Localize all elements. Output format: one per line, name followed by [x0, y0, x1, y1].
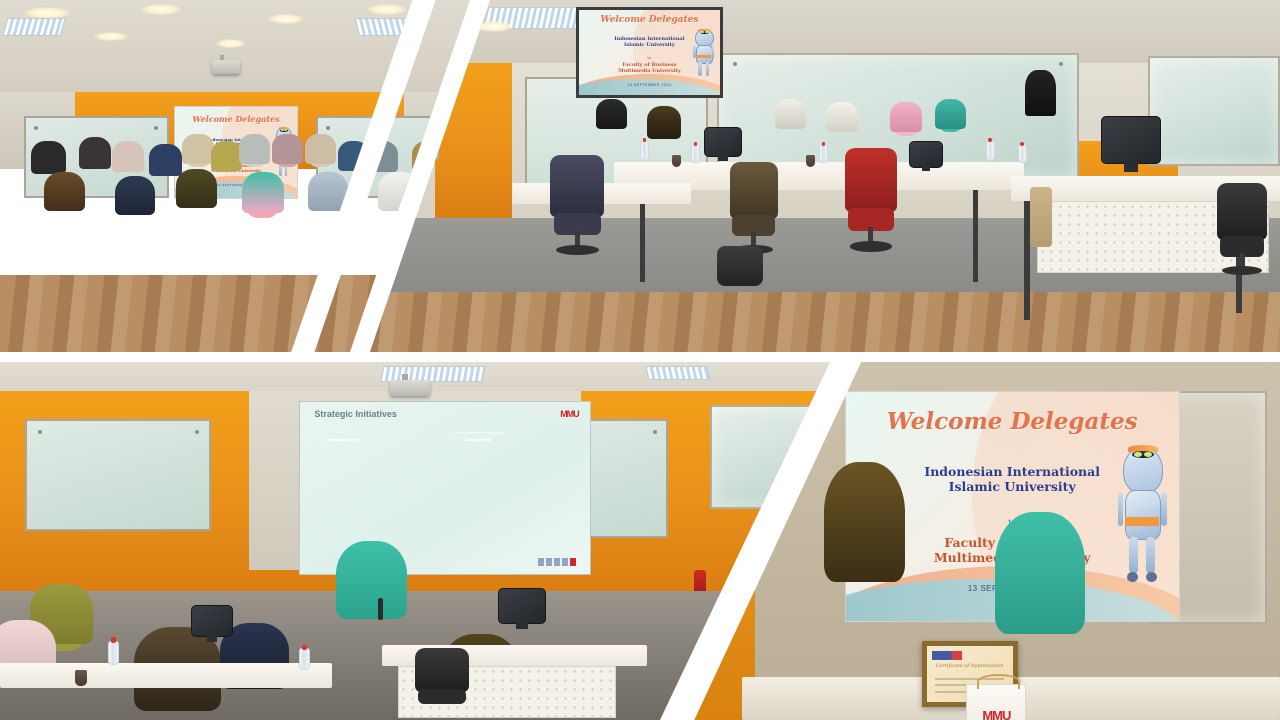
- mmu-souvenir-bag: MMU: [966, 684, 1026, 720]
- backpack: [717, 246, 763, 286]
- mmu-logo-text: MMU: [560, 409, 579, 419]
- ceiling-light-panel: [646, 366, 711, 380]
- desktop-monitor: [498, 588, 546, 622]
- office-chair: [1217, 183, 1267, 275]
- bag-handle: [977, 674, 1020, 689]
- office-chair: [415, 648, 469, 718]
- desk-leg: [1024, 201, 1030, 321]
- audience-table: [0, 663, 332, 688]
- mmu-logo: MMU: [560, 409, 579, 419]
- laptop-monitor: [704, 127, 742, 155]
- water-bottle: [986, 141, 995, 161]
- ceiling-light-icon: [474, 21, 514, 32]
- microphone-icon: [378, 598, 383, 620]
- ceiling-light-icon: [216, 39, 246, 48]
- ceiling-light-icon: [367, 4, 407, 15]
- plaque-logo-band: [932, 651, 1008, 660]
- desktop-monitor: [1101, 116, 1161, 162]
- office-chair: [730, 162, 778, 254]
- water-bottle: [1018, 144, 1027, 163]
- photo-collage: Welcome Delegates Indonesian Internation…: [0, 0, 1280, 720]
- ceiling-light-icon: [141, 4, 181, 15]
- plaque-title: Certificate of Appreciation: [927, 663, 1013, 669]
- presenter-trousers: [1030, 187, 1052, 247]
- ceiling-projector: [212, 60, 240, 74]
- ceiling-light-icon: [268, 14, 304, 24]
- office-chair: [550, 155, 604, 255]
- wall-display-welcome-slide: Welcome Delegates Indonesian Internation…: [576, 7, 723, 97]
- desktop-monitor: [191, 605, 233, 635]
- mmu-robot-mascot-icon: [692, 29, 716, 78]
- orange-wall-strip: [435, 63, 512, 225]
- coffee-cup: [672, 155, 681, 167]
- projected-strategic-initiatives-slide: Strategic Initiatives MMU Cadet Industry…: [299, 401, 592, 575]
- collage-row-bottom: Strategic Initiatives MMU Cadet Industry…: [0, 362, 1280, 720]
- strategic-left-column: Cadet Industry engagement to recruit tal…: [314, 433, 442, 441]
- slide-title: Welcome Delegates: [846, 408, 1179, 435]
- ceiling-projector: [390, 380, 430, 396]
- slide-date: 13 SEPTEMBER 2023: [579, 83, 720, 87]
- water-bottle: [299, 648, 310, 670]
- ceiling: [0, 0, 470, 106]
- ceiling-light-panel: [355, 18, 423, 36]
- water-bottle: [640, 141, 649, 161]
- slide-title: Welcome Delegates: [579, 15, 720, 25]
- coffee-cup: [806, 155, 815, 167]
- water-bottle: [691, 144, 700, 163]
- ceiling-light-icon: [94, 32, 128, 41]
- mmu-robot-mascot-icon: [1115, 447, 1168, 580]
- desk-leg: [973, 190, 978, 282]
- glass-whiteboard-left: [25, 419, 212, 530]
- whiteboard-far-right: [1148, 56, 1280, 166]
- office-chair-red: [845, 148, 897, 252]
- mmu-logo-text: MMU: [972, 708, 1021, 720]
- water-bottle: [108, 641, 119, 665]
- slide-footer-dots: [538, 558, 576, 566]
- slide-title: Welcome Delegates: [175, 114, 297, 124]
- collage-row-top: Welcome Delegates Indonesian Internation…: [0, 0, 1280, 352]
- slide-title: Strategic Initiatives: [314, 409, 397, 419]
- coffee-cup: [75, 670, 87, 686]
- water-bottle: [819, 144, 828, 163]
- laptop-monitor: [909, 141, 943, 166]
- fire-extinguisher-icon: [419, 162, 428, 188]
- row-divider: [0, 352, 1280, 362]
- ceiling-light-panel: [2, 18, 65, 36]
- strategic-right-column: Industry Handshake Programme Industry-ba…: [451, 433, 579, 441]
